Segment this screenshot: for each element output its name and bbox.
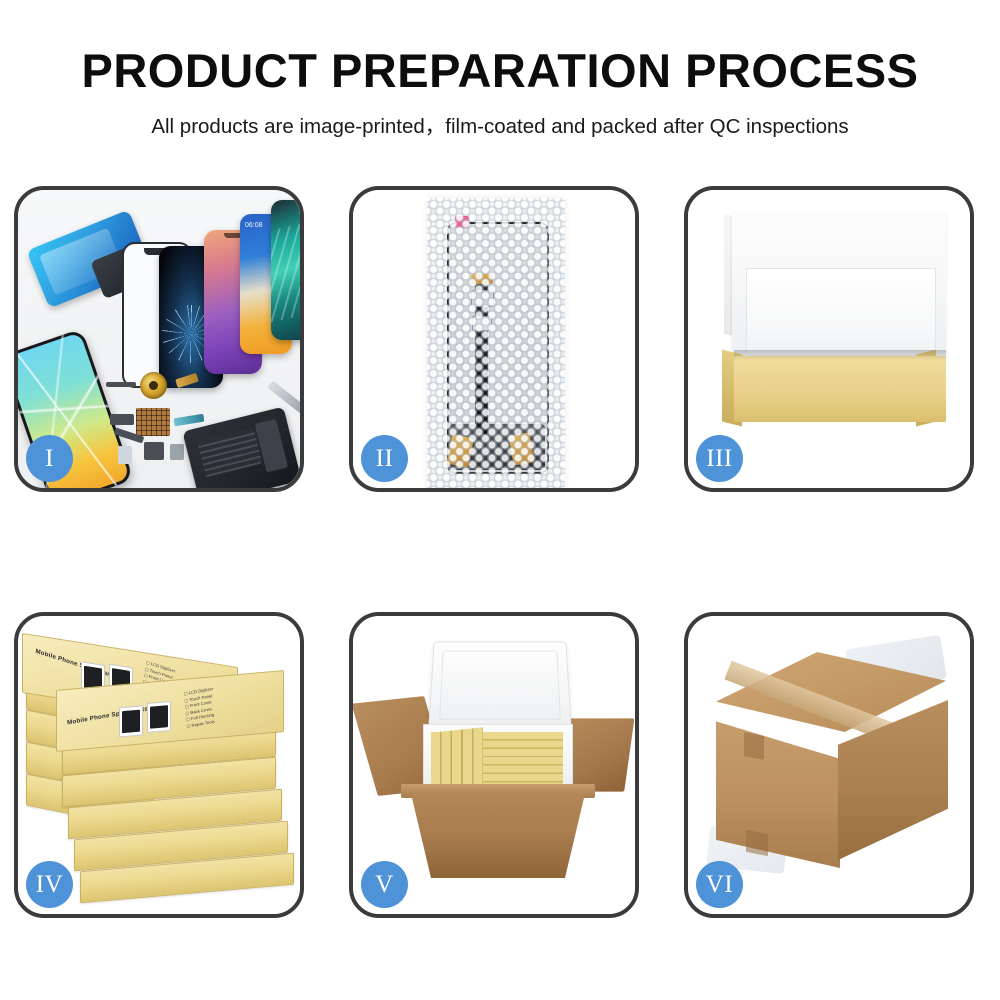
carton-seal-lower bbox=[746, 830, 768, 856]
step-badge-6: VI bbox=[696, 861, 743, 908]
retail-box-checklist-front: ▢ LCD Digitizer▢ Touch Panel▢ Front Cove… bbox=[183, 686, 216, 730]
phone-teal bbox=[271, 200, 300, 340]
page-title: PRODUCT PREPARATION PROCESS bbox=[0, 46, 1000, 95]
bubble-wrap-bag bbox=[427, 198, 565, 488]
process-step-grid: 06:08 I bbox=[14, 186, 986, 918]
page-header: PRODUCT PREPARATION PROCESS All products… bbox=[0, 0, 1000, 139]
step-badge-4: IV bbox=[26, 861, 73, 908]
step-panel-4: Mobile Phone Spare Parts ▢ LCD Digitizer… bbox=[14, 612, 304, 918]
step-badge-1: I bbox=[26, 435, 73, 482]
vibrator-part bbox=[170, 444, 184, 460]
step-panel-3: III bbox=[684, 186, 974, 492]
speaker-coil-part bbox=[140, 372, 167, 399]
page-subtitle: All products are image-printed，film-coat… bbox=[0, 109, 1000, 139]
foam-sheet bbox=[746, 268, 936, 356]
step-badge-5: V bbox=[361, 861, 408, 908]
step-panel-2: II bbox=[349, 186, 639, 492]
step-panel-1: 06:08 I bbox=[14, 186, 304, 492]
kraft-box-front bbox=[734, 356, 946, 422]
step-panel-6: VI bbox=[684, 612, 974, 918]
earpiece-mesh-part bbox=[106, 382, 136, 387]
carton-seal-upper bbox=[744, 732, 764, 760]
mesh-chip-part bbox=[136, 408, 170, 436]
step-panel-5: V bbox=[349, 612, 639, 918]
foam-lid bbox=[428, 641, 572, 730]
button-part bbox=[144, 442, 164, 460]
step-badge-2: II bbox=[361, 435, 408, 482]
sim-tray-part bbox=[118, 446, 132, 464]
step-badge-3: III bbox=[696, 435, 743, 482]
carton-body bbox=[405, 792, 591, 878]
camera-module-part bbox=[110, 414, 134, 425]
